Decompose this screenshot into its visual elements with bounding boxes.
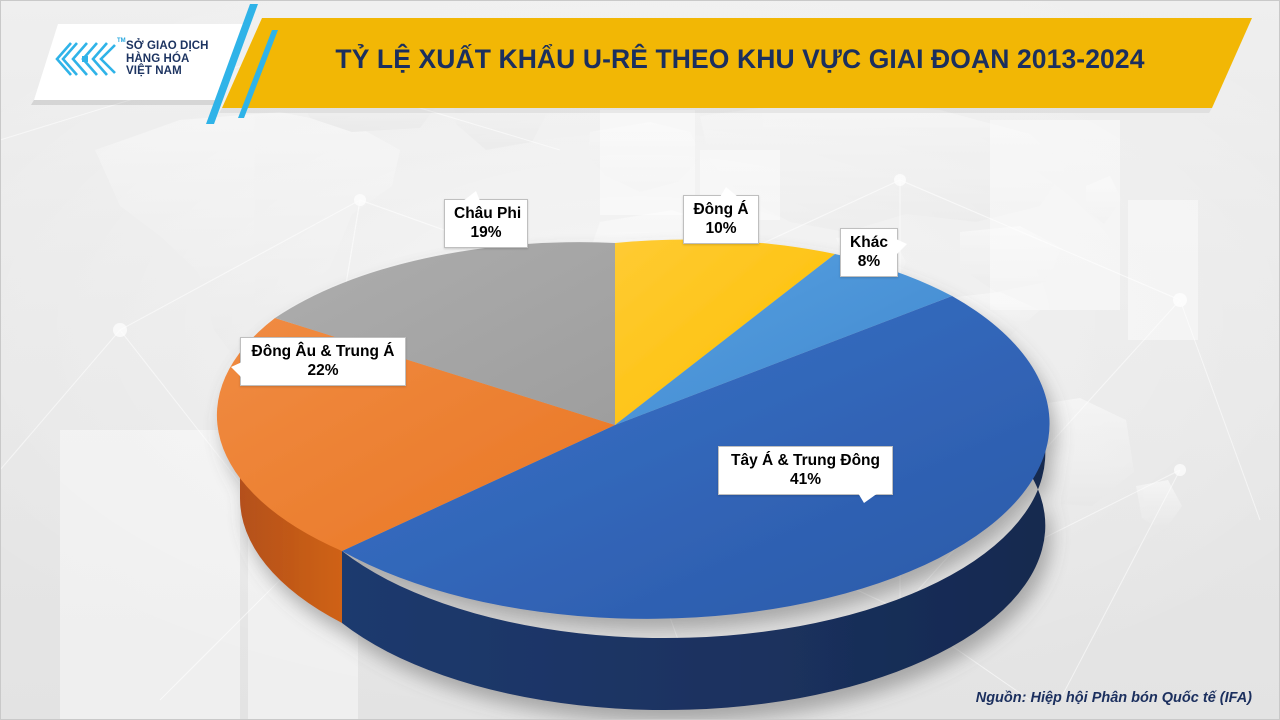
callout-tail bbox=[463, 191, 480, 201]
header-banner: SỞ GIAO DỊCH HÀNG HÓA VIỆT NAM TM TỶ LỆ … bbox=[0, 0, 1280, 118]
callout-tail bbox=[231, 362, 242, 378]
callout-tail bbox=[858, 493, 878, 503]
logo: SỞ GIAO DỊCH HÀNG HÓA VIỆT NAM TM bbox=[43, 25, 229, 93]
pie-label-dong-au-trung-a-value: 22% bbox=[250, 361, 396, 380]
logo-line-3: VIỆT NAM bbox=[126, 65, 209, 78]
page-title-text: TỶ LỆ XUẤT KHẨU U-RÊ THEO KHU VỰC GIAI Đ… bbox=[335, 44, 1144, 75]
pie-label-dong-au-trung-a-name: Đông Âu & Trung Á bbox=[250, 342, 396, 361]
page-title: TỶ LỆ XUẤT KHẨU U-RÊ THEO KHU VỰC GIAI Đ… bbox=[290, 0, 1190, 118]
pie-label-tay-a-trung-dong: Tây Á & Trung Đông 41% bbox=[718, 446, 893, 495]
source-note: Nguồn: Hiệp hội Phân bón Quốc tế (IFA) bbox=[976, 690, 1252, 706]
pie-label-tay-a-trung-dong-value: 41% bbox=[728, 470, 883, 489]
logo-line-1: SỞ GIAO DỊCH bbox=[126, 40, 209, 53]
pie-label-khac-value: 8% bbox=[850, 252, 888, 271]
pie-label-khac: Khác 8% bbox=[840, 228, 898, 277]
pie-label-tay-a-trung-dong-name: Tây Á & Trung Đông bbox=[728, 451, 883, 470]
pie-label-chau-phi: Châu Phi 19% bbox=[444, 199, 528, 248]
callout-tail bbox=[720, 187, 738, 197]
chart-infographic: Châu Phi 19% Đông Á 10% Khác 8% Đông Âu … bbox=[0, 0, 1280, 720]
pie-label-khac-name: Khác bbox=[850, 233, 888, 252]
mxv-logo-icon bbox=[53, 39, 119, 79]
pie-label-dong-au-trung-a: Đông Âu & Trung Á 22% bbox=[240, 337, 406, 386]
logo-line-2: HÀNG HÓA bbox=[126, 53, 209, 66]
pie-label-chau-phi-name: Châu Phi bbox=[454, 204, 518, 223]
trademark-icon: TM bbox=[117, 38, 126, 44]
logo-text: SỞ GIAO DỊCH HÀNG HÓA VIỆT NAM bbox=[126, 40, 209, 78]
pie-label-chau-phi-value: 19% bbox=[454, 223, 518, 242]
pie-label-dong-a: Đông Á 10% bbox=[683, 195, 759, 244]
pie-label-dong-a-value: 10% bbox=[693, 219, 749, 238]
callout-tail bbox=[896, 239, 907, 255]
pie-label-dong-a-name: Đông Á bbox=[693, 200, 749, 219]
